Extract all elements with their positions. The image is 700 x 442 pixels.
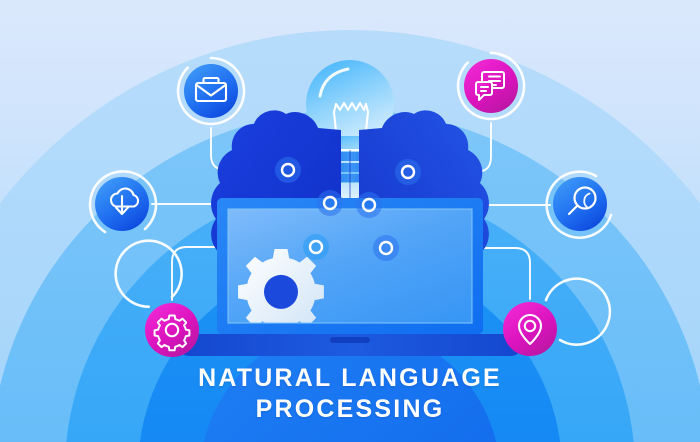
nlp-illustration: NATURAL LANGUAGE PROCESSING bbox=[0, 0, 700, 442]
settings-badge-ring bbox=[116, 241, 182, 307]
email-badge-circle bbox=[184, 64, 238, 118]
icon-badge-search[interactable] bbox=[547, 172, 611, 238]
icon-badge-location[interactable] bbox=[503, 279, 610, 356]
icon-badges-layer bbox=[0, 0, 700, 442]
settings-badge-circle bbox=[145, 303, 199, 357]
location-badge-circle bbox=[503, 302, 557, 356]
icon-badge-settings[interactable] bbox=[116, 241, 199, 357]
icon-badge-cloud-download[interactable] bbox=[90, 171, 156, 232]
search-badge-circle bbox=[553, 177, 607, 231]
icon-badge-chat[interactable] bbox=[458, 53, 524, 119]
icon-badge-email[interactable] bbox=[178, 58, 244, 124]
